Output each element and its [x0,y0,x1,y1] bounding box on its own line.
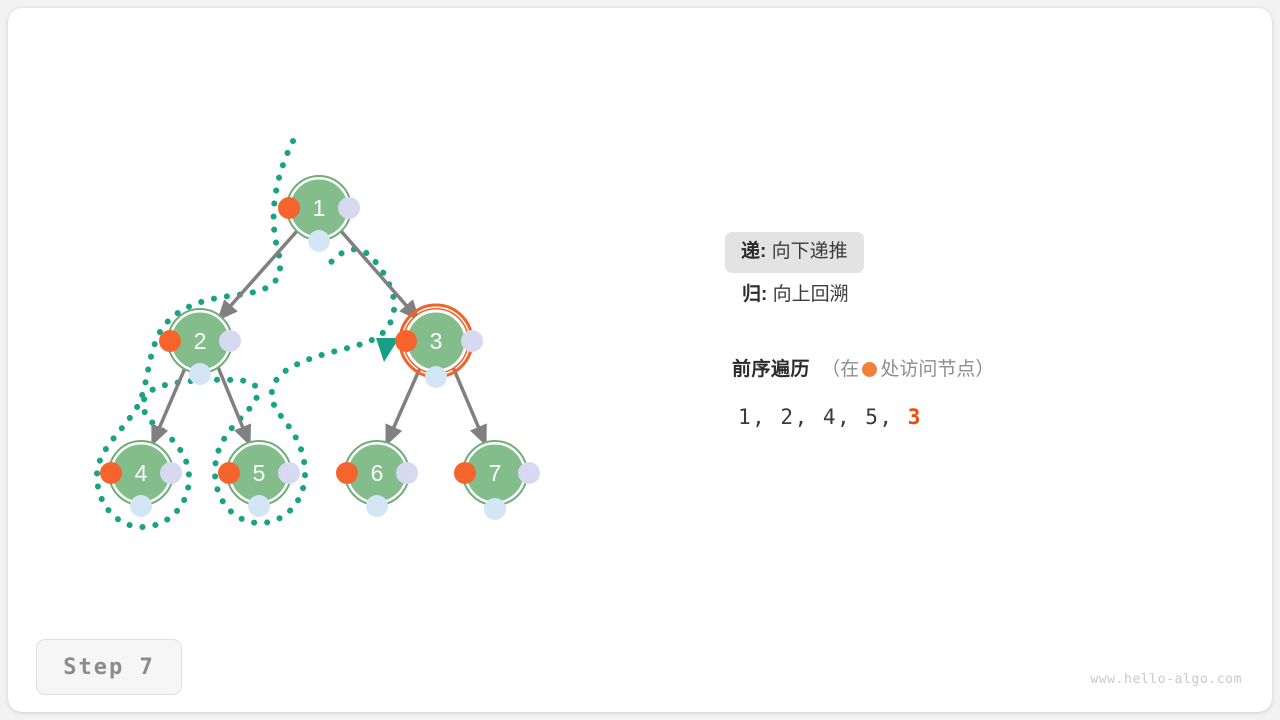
legend-backtrack-key: 归: [742,284,767,305]
node-2-pre-dot-icon [159,330,181,352]
node-5-in-dot-icon [248,495,270,517]
legend-recurse-highlight: 递: 向下递推 [725,232,864,273]
edge-n3-n6 [386,368,420,445]
legend-recurse-key: 递: [741,241,766,262]
traversal-sequence: 1, 2, 4, 5, 3 [726,405,1206,429]
node-3-pre-dot-icon [395,330,417,352]
node-2-post-dot-icon [219,330,241,352]
node-7-post-dot-icon [518,462,540,484]
node-1-label: 1 [313,195,326,221]
watermark: www.hello-algo.com [1090,672,1242,687]
node-4-label: 4 [135,460,148,486]
node-4-in-dot-icon [130,495,152,517]
node-3-post-dot-icon [461,330,483,352]
traversal-note: （在处访问节点） [821,359,994,380]
node-7-in-dot-icon [484,498,506,520]
legend-recurse-value: 向下递推 [772,241,848,262]
legend-row-backtrack: 归: 向上回溯 [726,273,1146,316]
legend-row-recurse: 递: 向下递推 [726,232,1146,273]
traversal-note-suffix: 处访问节点） [880,359,994,380]
traversal-title: 前序遍历 [732,359,810,380]
node-1-post-dot-icon [338,197,360,219]
step-label: Step 7 [63,655,154,680]
node-4-post-dot-icon [160,462,182,484]
node-5-label: 5 [253,460,266,486]
edge-n1-n3 [341,231,419,320]
node-2-label: 2 [194,328,207,354]
tree-node-2[interactable]: 2 [159,309,241,385]
node-7-label: 7 [489,460,502,486]
node-5-post-dot-icon [278,462,300,484]
legend-backtrack-group: 归: 向上回溯 [726,275,865,316]
tree-node-5[interactable]: 5 [218,441,300,517]
edge-n2-n4 [152,368,185,445]
traversal-order-block: 前序遍历 （在处访问节点） 1, 2, 4, 5, 3 [726,360,1206,429]
tree-node-6[interactable]: 6 [336,441,418,517]
traversal-sequence-current: 3 [908,405,922,429]
node-3-in-dot-icon [425,366,447,388]
traversal-note-prefix: （在 [821,359,859,380]
node-1-pre-dot-icon [278,197,300,219]
node-2-in-dot-icon [189,363,211,385]
node-6-pre-dot-icon [336,462,358,484]
orange-dot-icon [862,362,877,377]
legend-backtrack-value: 向上回溯 [773,284,849,305]
node-7-pre-dot-icon [454,462,476,484]
page-root: 1 2 3 [0,0,1280,720]
edge-n1-n2 [218,231,297,320]
tree-node-7[interactable]: 7 [454,441,540,520]
traversal-sequence-visited: 1, 2, 4, 5, [738,405,894,429]
node-4-pre-dot-icon [100,462,122,484]
step-badge: Step 7 [36,639,182,695]
node-6-post-dot-icon [396,462,418,484]
tree-node-4[interactable]: 4 [100,441,182,517]
edge-n3-n7 [453,367,486,445]
node-6-label: 6 [371,460,384,486]
node-3-label: 3 [430,328,443,354]
node-1-in-dot-icon [308,230,330,252]
node-6-in-dot-icon [366,495,388,517]
tree-node-3[interactable]: 3 [395,305,483,388]
legend-panel: 递: 向下递推 归: 向上回溯 [726,232,1146,316]
node-5-pre-dot-icon [218,462,240,484]
traversal-title-row: 前序遍历 （在处访问节点） [726,360,1206,379]
